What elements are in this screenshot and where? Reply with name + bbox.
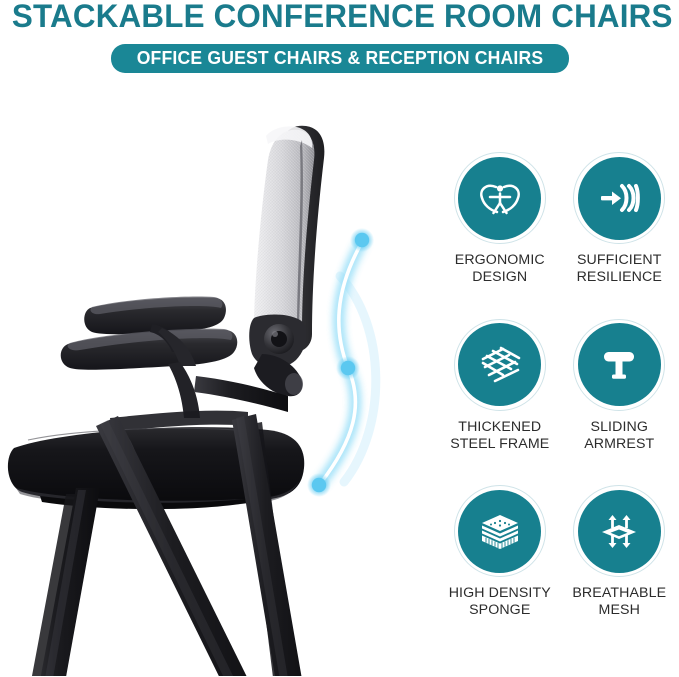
- feature-list: ERGONOMIC DESIGN SUFFICIENT RESILIENCE: [440, 152, 679, 652]
- flex-dot-middle: [341, 361, 355, 375]
- icon-wrap: [573, 485, 665, 577]
- feature-label: SUFFICIENT RESILIENCE: [577, 252, 662, 286]
- subtitle-text: OFFICE GUEST CHAIRS & RECEPTION CHAIRS: [136, 47, 543, 69]
- header-banner: STACKABLE CONFERENCE ROOM CHAIRS OFFICE …: [0, 0, 679, 86]
- airflow-mesh-icon: [578, 490, 661, 573]
- flex-dot-top: [355, 233, 369, 247]
- icon-wrap: [454, 485, 546, 577]
- product-image: [0, 96, 440, 676]
- feature-label: SLIDING ARMREST: [584, 419, 654, 453]
- feature-item-ergonomic-design[interactable]: ERGONOMIC DESIGN: [440, 152, 560, 319]
- subtitle-pill: OFFICE GUEST CHAIRS & RECEPTION CHAIRS: [111, 44, 569, 73]
- feature-item-sufficient-resilience[interactable]: SUFFICIENT RESILIENCE: [560, 152, 679, 319]
- layered-foam-stack-icon: [458, 490, 541, 573]
- flex-dot-bottom: [312, 478, 326, 492]
- feature-item-thickened-steel-frame[interactable]: THICKENED STEEL FRAME: [440, 319, 560, 486]
- feature-label: THICKENED STEEL FRAME: [450, 419, 549, 453]
- icon-wrap: [573, 319, 665, 411]
- feature-item-high-density-sponge[interactable]: HIGH DENSITY SPONGE: [440, 485, 560, 652]
- ergonomic-person-icon: [458, 157, 541, 240]
- backrest-pivot: [249, 315, 306, 397]
- armrest-lower: [61, 329, 238, 370]
- feature-label: ERGONOMIC DESIGN: [455, 252, 545, 286]
- feature-label: BREATHABLE MESH: [572, 585, 666, 619]
- icon-wrap: [454, 319, 546, 411]
- arrow-into-springs-icon: [578, 157, 661, 240]
- icon-wrap: [454, 152, 546, 244]
- backrest-flex-curve: [300, 216, 440, 516]
- crosshatch-lattice-icon: [458, 323, 541, 406]
- feature-item-breathable-mesh[interactable]: BREATHABLE MESH: [560, 485, 679, 652]
- feature-label: HIGH DENSITY SPONGE: [449, 585, 551, 619]
- page-title: STACKABLE CONFERENCE ROOM CHAIRS: [12, 0, 667, 35]
- t-beam-armrest-icon: [578, 323, 661, 406]
- icon-wrap: [573, 152, 665, 244]
- feature-item-sliding-armrest[interactable]: SLIDING ARMREST: [560, 319, 679, 486]
